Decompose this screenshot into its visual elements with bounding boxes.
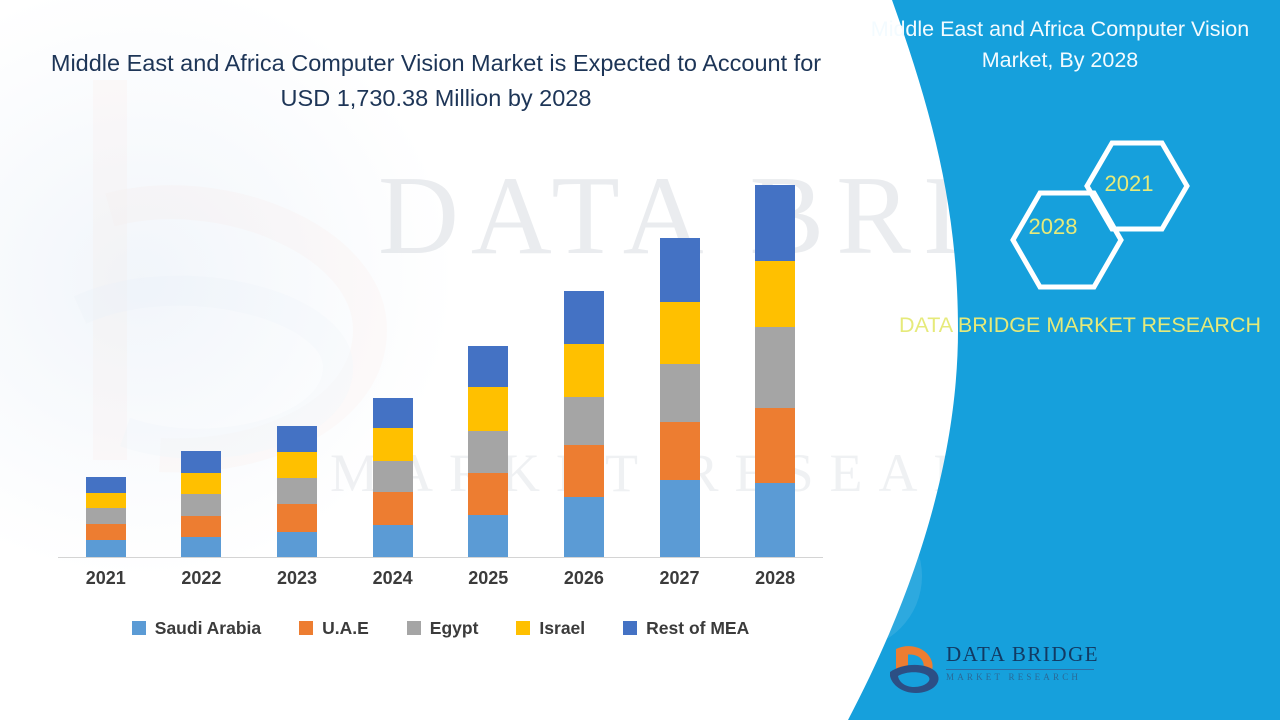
bar-group [632, 150, 728, 557]
bar-segment [564, 445, 604, 497]
legend-item[interactable]: Egypt [407, 618, 479, 639]
bar-segment [468, 346, 508, 387]
bar-group [249, 150, 345, 557]
stacked-bar-plot [58, 150, 823, 558]
bar-segment [181, 494, 221, 516]
bar-segment [86, 524, 126, 540]
bar-segment [755, 408, 795, 483]
bar-segment [564, 397, 604, 445]
hexagon-label-2021: 2021 [1064, 171, 1194, 197]
stacked-bar-2021 [86, 477, 126, 557]
bar-segment [181, 537, 221, 557]
bar-segment [86, 540, 126, 557]
legend-item[interactable]: U.A.E [299, 618, 369, 639]
legend-label: Israel [539, 618, 585, 639]
x-axis-tick-2023: 2023 [249, 568, 345, 589]
bar-group [441, 150, 537, 557]
legend-swatch-icon [299, 621, 313, 635]
bar-segment [86, 493, 126, 508]
bar-segment [468, 473, 508, 515]
bar-segment [277, 452, 317, 478]
brand-name: DATA BRIDGE MARKET RESEARCH [880, 310, 1280, 341]
stacked-bar-2026 [564, 291, 604, 557]
bar-segment [277, 478, 317, 504]
bar-segment [181, 516, 221, 537]
legend-label: Rest of MEA [646, 618, 749, 639]
x-axis-labels: 20212022202320242025202620272028 [58, 568, 823, 598]
stacked-bar-2023 [277, 426, 317, 557]
x-axis-tick-2027: 2027 [632, 568, 728, 589]
bar-segment [660, 238, 700, 302]
x-axis-tick-2024: 2024 [345, 568, 441, 589]
hexagon-group [880, 0, 1280, 420]
bar-group [536, 150, 632, 557]
x-axis-tick-2028: 2028 [727, 568, 823, 589]
x-axis-tick-2026: 2026 [536, 568, 632, 589]
hexagon-label-2028: 2028 [988, 214, 1118, 240]
x-axis-tick-2025: 2025 [441, 568, 537, 589]
bar-segment [181, 451, 221, 473]
bar-segment [755, 185, 795, 261]
bar-segment [755, 327, 795, 408]
stacked-bar-2024 [373, 398, 413, 557]
legend-label: U.A.E [322, 618, 369, 639]
bar-segment [755, 483, 795, 557]
bar-segment [181, 473, 221, 494]
legend-label: Egypt [430, 618, 479, 639]
chart-panel: DATA BRIDGE MARKET RESEARCH Middle East … [0, 0, 880, 720]
bar-segment [468, 515, 508, 557]
bar-segment [660, 422, 700, 480]
logo-wordmark: DATA BRIDGE [946, 642, 1099, 667]
bar-segment [564, 497, 604, 557]
bar-group [58, 150, 154, 557]
bar-group [727, 150, 823, 557]
bar-segment [373, 398, 413, 428]
stacked-bar-2025 [468, 346, 508, 557]
stacked-bar-2028 [755, 185, 795, 557]
legend-label: Saudi Arabia [155, 618, 261, 639]
bar-group [345, 150, 441, 557]
bar-segment [564, 291, 604, 344]
bar-segment [660, 302, 700, 364]
legend-item[interactable]: Saudi Arabia [132, 618, 261, 639]
chart-title: Middle East and Africa Computer Vision M… [30, 46, 842, 116]
legend-item[interactable]: Rest of MEA [623, 618, 749, 639]
bar-segment [373, 492, 413, 525]
bar-segment [660, 480, 700, 557]
logo-subtitle: MARKET RESEARCH [946, 672, 1081, 682]
logo-divider [946, 669, 1094, 670]
bar-segment [468, 431, 508, 473]
bar-segment [277, 426, 317, 452]
stacked-bar-2022 [181, 451, 221, 557]
bar-group [154, 150, 250, 557]
bar-segment [755, 261, 795, 327]
bar-segment [373, 428, 413, 461]
x-axis-tick-2021: 2021 [58, 568, 154, 589]
bar-segment [564, 344, 604, 397]
bar-segment [86, 477, 126, 493]
chart-legend: Saudi ArabiaU.A.EEgyptIsraelRest of MEA [58, 612, 823, 644]
bar-segment [277, 504, 317, 532]
x-axis-tick-2022: 2022 [154, 568, 250, 589]
data-bridge-logo: DATA BRIDGE MARKET RESEARCH [888, 636, 1103, 706]
infographic-page: DATA BRIDGE MARKET RESEARCH Middle East … [0, 0, 1280, 720]
bar-segment [468, 387, 508, 431]
logo-mark-icon [888, 636, 946, 698]
bar-segment [373, 461, 413, 492]
legend-swatch-icon [516, 621, 530, 635]
legend-swatch-icon [407, 621, 421, 635]
bar-segment [86, 508, 126, 524]
x-axis-line [58, 557, 823, 558]
hexagon-2028 [1013, 193, 1121, 287]
legend-swatch-icon [132, 621, 146, 635]
bar-segment [373, 525, 413, 557]
legend-item[interactable]: Israel [516, 618, 585, 639]
bar-segment [277, 532, 317, 557]
bar-segment [660, 364, 700, 422]
stacked-bar-2027 [660, 238, 700, 557]
legend-swatch-icon [623, 621, 637, 635]
